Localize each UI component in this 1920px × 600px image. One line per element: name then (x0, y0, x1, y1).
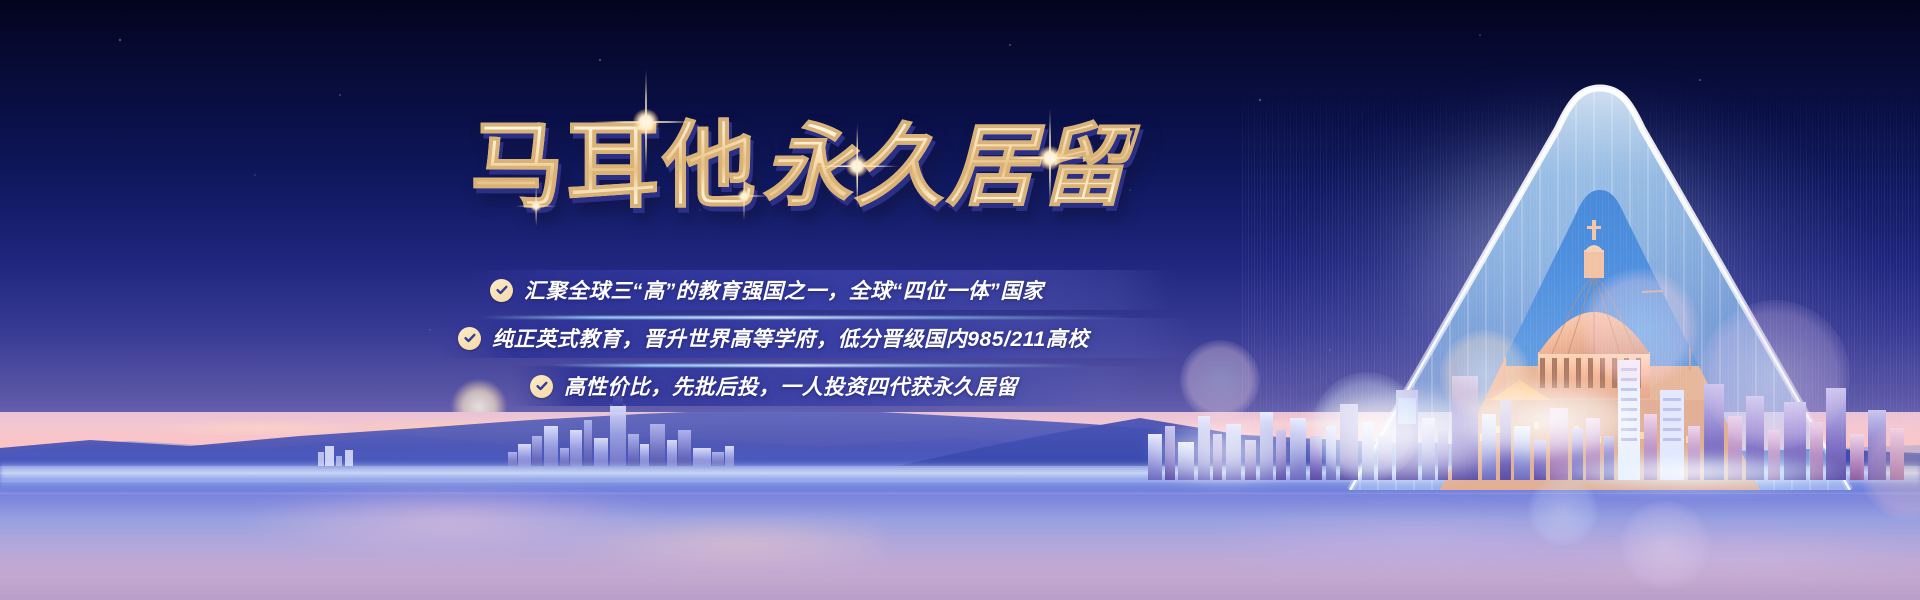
check-circle-icon (490, 279, 513, 302)
bullet-row-highlight-line (480, 316, 1132, 319)
check-circle-icon (458, 327, 481, 350)
bullet-text: 纯正英式教育，晋升世界高等学府，低分晋级国内985/211高校 (492, 323, 1089, 353)
bullet-text: 汇聚全球三“高”的教育强国之一，全球“四位一体”国家 (524, 275, 1044, 305)
title-text-primary: 马耳他 (470, 119, 758, 213)
bullet-row-2[interactable]: 纯正英式教育，晋升世界高等学府，低分晋级国内985/211高校 (440, 318, 1192, 358)
bullet-row-3[interactable]: 高性价比，先批后投，一人投资四代获永久居留 (512, 366, 1152, 406)
malta-residence-banner: 马耳他 永久居留 汇聚全球三“高”的教育强国之一，全球“四位一体”国家 (0, 0, 1920, 600)
banner-title: 马耳他 永久居留 (470, 106, 1170, 226)
water-reflection-left (120, 480, 880, 590)
bullet-text: 高性价比，先批后投，一人投资四代获永久居留 (564, 371, 1018, 401)
title-text-secondary: 永久居留 (762, 121, 1130, 211)
check-circle-icon (530, 375, 553, 398)
bullet-list: 汇聚全球三“高”的教育强国之一，全球“四位一体”国家 纯正英式教育，晋升世界高等… (0, 268, 1280, 418)
bullet-row-highlight-line (552, 364, 1092, 367)
bullet-row-1[interactable]: 汇聚全球三“高”的教育强国之一，全球“四位一体”国家 (472, 270, 1172, 310)
